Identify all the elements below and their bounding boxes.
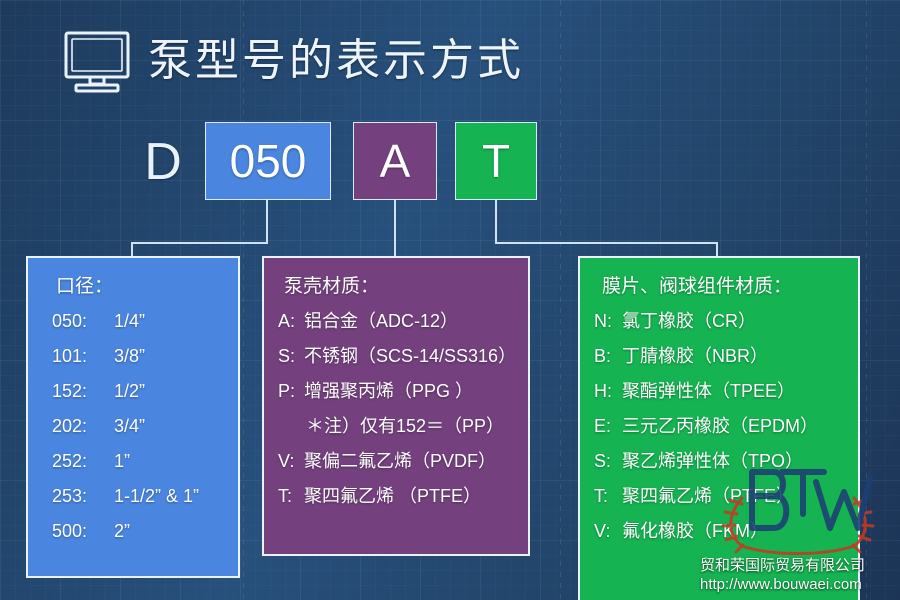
diaphragm-row: N: 氯丁橡胶（CR） [594,304,844,339]
diaphragm-value: 氟化橡胶（FKM） [622,514,768,549]
background-guide-line [866,0,867,600]
bore-row: 500: 2” [42,514,224,549]
connector-diaphragm-drop [716,242,718,257]
casing-note-row: ＊注）仅有152＝（PP） [278,409,514,444]
casing-value: 不锈钢（SCS-14/SS316） [304,339,516,374]
bore-value: 2” [114,514,130,549]
casing-row: V: 聚偏二氟乙烯（PVDF） [278,444,514,479]
bore-row: 152: 1/2” [42,374,224,409]
background-guide-line [560,0,561,600]
bore-code: 253: [52,479,114,514]
page-title: 泵型号的表示方式 [148,33,524,89]
bore-code: 050: [52,304,114,339]
monitor-icon [64,31,130,93]
diaphragm-row: H: 聚酯弹性体（TPEE） [594,374,844,409]
bore-code: 500: [52,514,114,549]
casing-row: S: 不锈钢（SCS-14/SS316） [278,339,514,374]
diaphragm-code: V: [594,514,622,549]
panel-diaphragm-title: 膜片、阀球组件材质： [594,270,844,304]
casing-code: V: [278,444,304,479]
bore-value: 1-1/2” & 1” [114,479,199,514]
casing-row: A: 铝合金（ADC-12） [278,304,514,339]
diaphragm-row: T: 聚四氟乙烯（PTFE） [594,479,844,514]
casing-code-box[interactable]: A [353,122,437,200]
diaphragm-value: 聚四氟乙烯（PTFE） [622,479,794,514]
diaphragm-value: 聚乙烯弹性体（TPO） [622,444,803,479]
casing-value: 铝合金（ADC-12） [304,304,458,339]
panel-diaphragm-material: 膜片、阀球组件材质： N: 氯丁橡胶（CR） B: 丁腈橡胶（NBR） H: 聚… [578,256,860,600]
diaphragm-value: 丁腈橡胶（NBR） [622,339,768,374]
bore-code: 152: [52,374,114,409]
diaphragm-value: 聚酯弹性体（TPEE） [622,374,795,409]
bore-row: 252: 1” [42,444,224,479]
diaphragm-value: 氯丁橡胶（CR） [622,304,756,339]
diaphragm-code: E: [594,409,622,444]
bore-value: 1/2” [114,374,145,409]
connector-bore-vertical [266,200,268,243]
casing-value: 增强聚丙烯（PPG ） [304,374,473,409]
connector-bore-horizontal [131,242,268,244]
connector-diaphragm-vertical [495,200,497,243]
connector-bore-drop [131,242,133,257]
bore-row: 101: 3/8” [42,339,224,374]
connector-diaphragm-horizontal [495,242,718,244]
bore-value: 1” [114,444,130,479]
diaphragm-code-box[interactable]: T [455,122,537,200]
panel-bore-size: 口径： 050: 1/4” 101: 3/8” 152: 1/2” 202: 3… [26,256,240,578]
bore-row: 253: 1-1/2” & 1” [42,479,224,514]
diaphragm-code: B: [594,339,622,374]
slide-canvas: 泵型号的表示方式 D 050 A T 口径： 050: 1/4” 101: 3/… [0,0,900,600]
model-code-prefix-letter: D [133,125,193,199]
diaphragm-row: S: 聚乙烯弹性体（TPO） [594,444,844,479]
bore-code: 252: [52,444,114,479]
diaphragm-code: S: [594,444,622,479]
bore-value: 3/8” [114,339,145,374]
diaphragm-row: V: 氟化橡胶（FKM） [594,514,844,549]
bore-value: 1/4” [114,304,145,339]
connector-casing-vertical [394,200,396,257]
bore-row: 202: 3/4” [42,409,224,444]
casing-value: 聚四氟乙烯 （PTFE） [304,479,481,514]
casing-code: T: [278,479,304,514]
panel-casing-material: 泵壳材质： A: 铝合金（ADC-12） S: 不锈钢（SCS-14/SS316… [262,256,530,556]
casing-code: S: [278,339,304,374]
bore-code: 202: [52,409,114,444]
bore-code: 101: [52,339,114,374]
casing-row: P: 增强聚丙烯（PPG ） [278,374,514,409]
diaphragm-code: T: [594,479,622,514]
panel-bore-title: 口径： [42,270,224,304]
casing-value: 聚偏二氟乙烯（PVDF） [304,444,496,479]
diaphragm-row: E: 三元乙丙橡胶（EPDM） [594,409,844,444]
background-guide-line [243,0,244,600]
bore-code-box[interactable]: 050 [205,122,331,200]
diaphragm-value: 三元乙丙橡胶（EPDM） [622,409,818,444]
panel-casing-title: 泵壳材质： [278,270,514,304]
bore-row: 050: 1/4” [42,304,224,339]
casing-code: P: [278,374,304,409]
diaphragm-code: N: [594,304,622,339]
diaphragm-code: H: [594,374,622,409]
diaphragm-row: B: 丁腈橡胶（NBR） [594,339,844,374]
bore-value: 3/4” [114,409,145,444]
casing-code: A: [278,304,304,339]
casing-note: ＊注）仅有152＝（PP） [278,409,504,444]
casing-row: T: 聚四氟乙烯 （PTFE） [278,479,514,514]
